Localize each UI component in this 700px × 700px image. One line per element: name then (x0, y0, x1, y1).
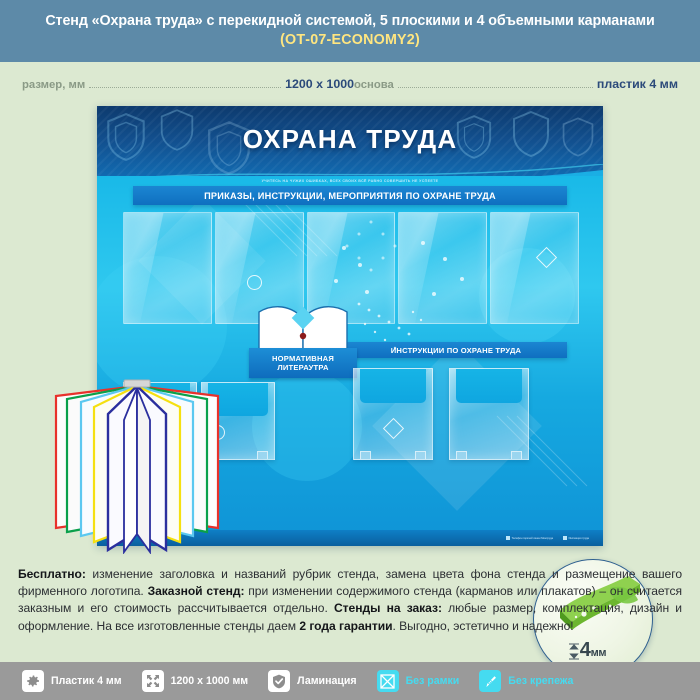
footer-item-lamination[interactable]: Ламинация (268, 670, 356, 692)
shield-check-icon (268, 670, 290, 692)
gear-icon (22, 670, 44, 692)
stand-footer-note: Телефон горячей линии Минтруда (506, 536, 553, 540)
stand-preview-area: ОХРАНА ТРУДА (0, 104, 700, 559)
spec-base-group: основа пластик 4 мм (354, 77, 678, 91)
screw-icon (479, 670, 501, 692)
flat-pocket (123, 212, 212, 324)
footer-label-no-fasteners: Без крепежа (508, 675, 573, 687)
spec-base-leader (398, 78, 593, 88)
footer-item-no-frame[interactable]: Без рамки (377, 670, 460, 692)
footer-item-no-fasteners[interactable]: Без крепежа (479, 670, 573, 692)
stand-main-title: ОХРАНА ТРУДА (97, 124, 603, 155)
desc-order-label: Стенды на заказ: (334, 601, 442, 615)
stand-header-band: ОХРАНА ТРУДА (97, 106, 603, 184)
square-bullet-icon (506, 536, 510, 540)
stand-motto: УЧИТЕСЬ НА ЧУЖИХ ОШИБКАХ, ВСЕХ СВОИХ ВСЁ… (97, 179, 603, 183)
spec-summary-row: размер, мм 1200 x 1000 основа пластик 4 … (0, 62, 700, 106)
product-title-bar: Стенд «Охрана труда» с перекидной систем… (0, 0, 700, 62)
footer-label-no-frame: Без рамки (406, 675, 460, 687)
footer-item-material[interactable]: Пластик 4 мм (22, 670, 122, 692)
stand-banner-orders: ПРИКАЗЫ, ИНСТРУКЦИИ, МЕРОПРИЯТИЯ ПО ОХРА… (133, 186, 567, 205)
desc-warranty-label: 2 года гарантии (299, 619, 392, 633)
desc-custom-label: Заказной стенд: (148, 584, 245, 598)
page-title: Стенд «Охрана труда» с перекидной систем… (45, 13, 654, 31)
frame-icon (377, 670, 399, 692)
volumetric-pocket (449, 368, 529, 460)
spec-base-label: основа (354, 79, 394, 91)
product-code: (ОТ-07-ECONOMY2) (280, 31, 420, 50)
stand-label-normativ: НОРМАТИВНАЯ ЛИТЕРАУТРА (249, 348, 357, 378)
square-bullet-icon (563, 536, 567, 540)
product-card-page: Стенд «Охрана труда» с перекидной систем… (0, 0, 700, 700)
resize-icon (142, 670, 164, 692)
desc-warranty-text: . Выгодно, эстетично и надежно! (393, 619, 574, 633)
flip-mount-bar (124, 380, 150, 387)
spec-base-value: пластик 4 мм (597, 77, 678, 91)
description-paragraph: Бесплатно: изменение заголовка и названи… (18, 566, 682, 635)
normativ-line-2: ЛИТЕРАУТРА (277, 363, 328, 372)
footer-label-size: 1200 x 1000 мм (171, 675, 249, 687)
footer-label-material: Пластик 4 мм (51, 675, 122, 687)
feature-footer-bar: Пластик 4 мм 1200 x 1000 мм Ламинация Бе… (0, 662, 700, 700)
spec-size-value: 1200 x 1000 (285, 77, 354, 91)
flip-display-system (48, 376, 226, 554)
stand-footer-note: Инспекция труда (563, 536, 589, 540)
flat-pocket (490, 212, 579, 324)
footer-item-size[interactable]: 1200 x 1000 мм (142, 670, 249, 692)
volumetric-pocket (353, 368, 433, 460)
spec-size-leader (89, 78, 281, 88)
desc-free-label: Бесплатно: (18, 567, 86, 581)
thickness-label: 4мм (534, 639, 652, 662)
spec-size-label: размер, мм (22, 79, 85, 91)
spec-size-group: размер, мм 1200 x 1000 (22, 77, 354, 91)
dotted-connector (355, 298, 429, 358)
normativ-line-1: НОРМАТИВНАЯ (272, 354, 334, 363)
footer-label-lamination: Ламинация (297, 675, 356, 687)
flip-leaves (48, 376, 226, 554)
